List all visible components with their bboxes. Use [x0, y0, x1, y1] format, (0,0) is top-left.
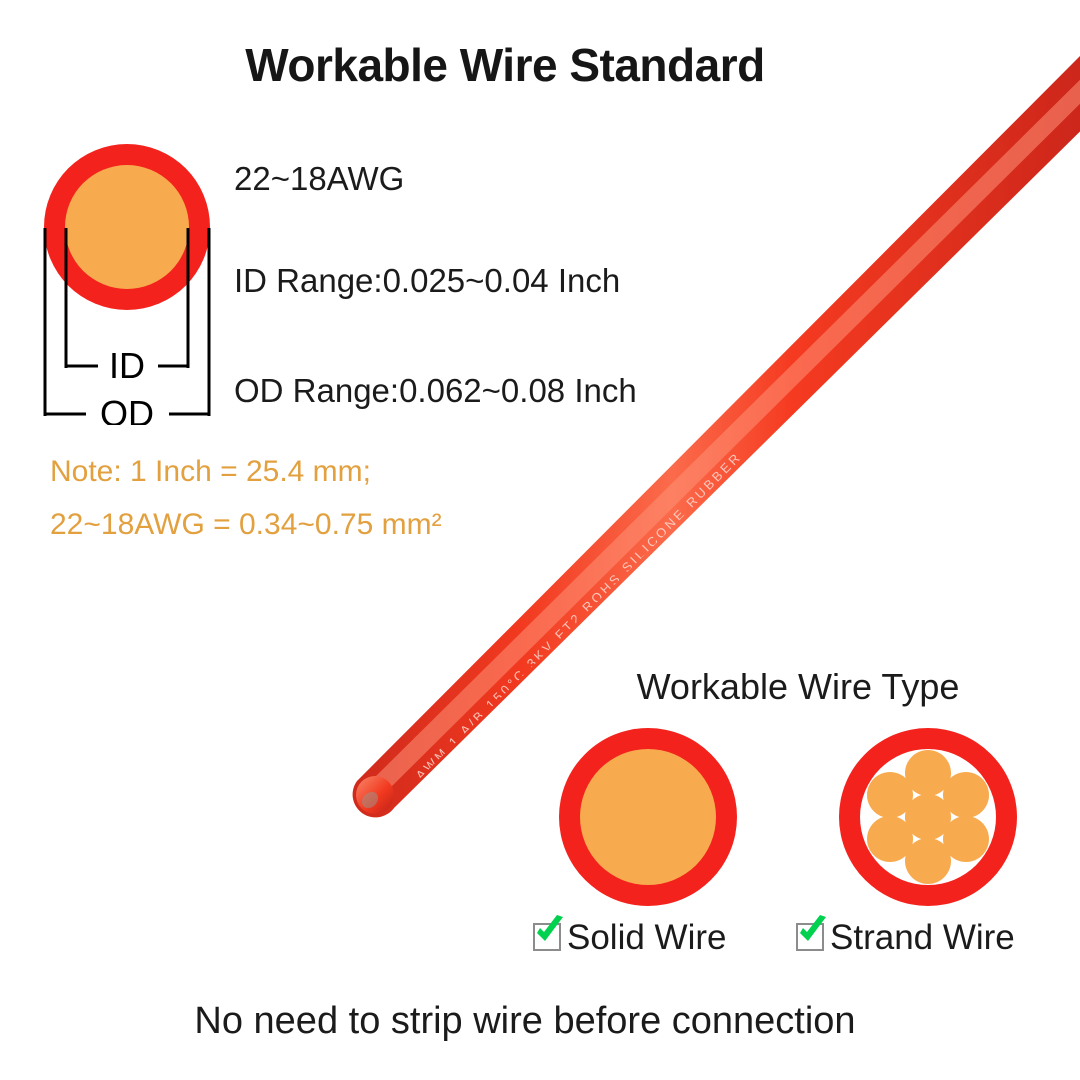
page-title: Workable Wire Standard — [0, 38, 1080, 92]
footer-caption: No need to strip wire before connection — [0, 1000, 1080, 1043]
id-label: ID — [109, 345, 145, 386]
spec-od-range: OD Range:0.062~0.08 Inch — [234, 372, 637, 410]
solid-wire-figure — [558, 727, 738, 907]
wire-standard-infographic: AWM 1 A/B 150°C 3KV FT2 ROHS SILICONE RU… — [0, 0, 1080, 1080]
note-line-1: Note: 1 Inch = 25.4 mm; — [50, 455, 371, 489]
od-label: OD — [100, 393, 154, 425]
check-icon — [795, 913, 831, 949]
checkbox-solid-wire[interactable] — [533, 923, 561, 951]
checkbox-strand-wire[interactable] — [796, 923, 824, 951]
strand-wire-figure — [838, 727, 1018, 907]
solid-wire-label: Solid Wire — [567, 920, 726, 955]
solid-conductor — [580, 749, 716, 885]
strand-wire-label: Strand Wire — [830, 920, 1015, 955]
strand-wire-option[interactable]: Strand Wire — [796, 917, 1015, 957]
check-icon — [532, 913, 568, 949]
spec-id-range: ID Range:0.025~0.04 Inch — [234, 262, 620, 300]
wire-type-heading: Workable Wire Type — [598, 666, 998, 708]
conductor-core — [65, 165, 189, 289]
spec-awg-range: 22~18AWG — [234, 160, 404, 198]
note-line-2: 22~18AWG = 0.34~0.75 mm² — [50, 508, 442, 542]
wire-cross-section-diagram: ID OD — [38, 140, 238, 425]
solid-wire-option[interactable]: Solid Wire — [533, 917, 726, 957]
